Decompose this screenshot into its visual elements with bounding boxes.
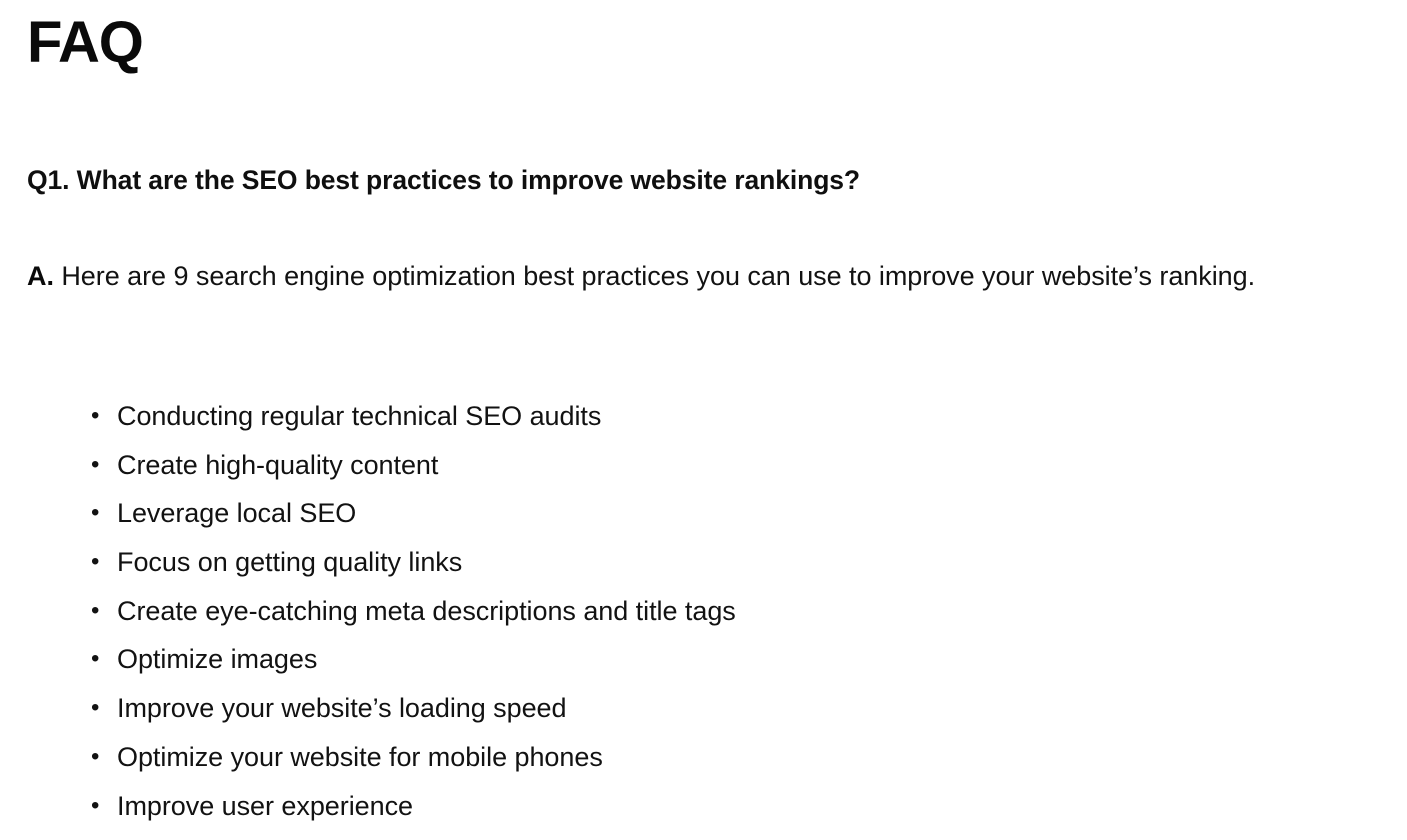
- list-item-label: Create eye-catching meta descriptions an…: [117, 596, 736, 626]
- bullet-point-icon: •: [91, 441, 101, 490]
- faq-answer-list: • Conducting regular technical SEO audit…: [27, 392, 1367, 830]
- list-item: • Optimize images: [27, 635, 1367, 684]
- list-item: • Conducting regular technical SEO audit…: [27, 392, 1367, 441]
- faq-answer: A. Here are 9 search engine optimization…: [27, 250, 1387, 303]
- list-item: • Create high-quality content: [27, 441, 1367, 490]
- list-item-label: Optimize your website for mobile phones: [117, 742, 603, 772]
- answer-lead-label: A.: [27, 261, 54, 291]
- faq-question: Q1. What are the SEO best practices to i…: [27, 163, 1377, 197]
- bullet-point-icon: •: [91, 489, 101, 538]
- bullet-point-icon: •: [91, 782, 101, 831]
- list-item: • Leverage local SEO: [27, 489, 1367, 538]
- bullet-point-icon: •: [91, 635, 101, 684]
- list-item: • Improve user experience: [27, 782, 1367, 831]
- bullet-point-icon: •: [91, 538, 101, 587]
- page-title: FAQ: [27, 8, 143, 78]
- answer-body-text: Here are 9 search engine optimization be…: [54, 261, 1255, 291]
- list-item-label: Optimize images: [117, 644, 317, 674]
- list-item: • Create eye-catching meta descriptions …: [27, 587, 1367, 636]
- bullet-point-icon: •: [91, 587, 101, 636]
- bullet-point-icon: •: [91, 684, 101, 733]
- list-item-label: Conducting regular technical SEO audits: [117, 401, 601, 431]
- faq-page: FAQ Q1. What are the SEO best practices …: [0, 0, 1407, 840]
- list-item-label: Create high-quality content: [117, 450, 438, 480]
- list-item-label: Improve your website’s loading speed: [117, 693, 566, 723]
- list-item-label: Focus on getting quality links: [117, 547, 462, 577]
- list-item-label: Leverage local SEO: [117, 498, 356, 528]
- list-item: • Improve your website’s loading speed: [27, 684, 1367, 733]
- list-item-label: Improve user experience: [117, 791, 413, 821]
- bullet-point-icon: •: [91, 733, 101, 782]
- bullet-point-icon: •: [91, 392, 101, 441]
- list-item: • Focus on getting quality links: [27, 538, 1367, 587]
- list-item: • Optimize your website for mobile phone…: [27, 733, 1367, 782]
